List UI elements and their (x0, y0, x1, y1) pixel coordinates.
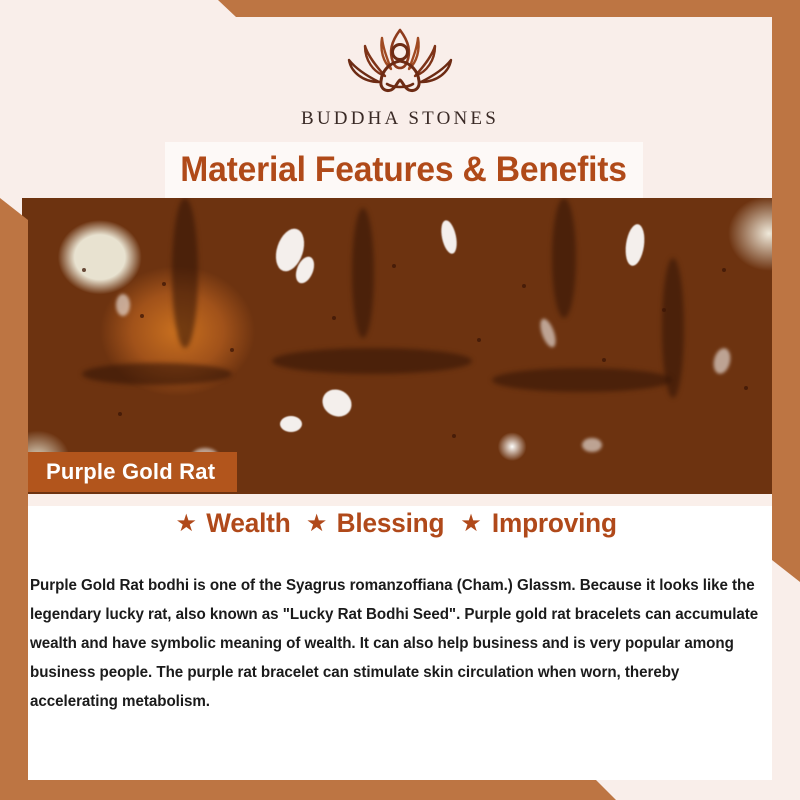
frame-bar-bottom (0, 780, 800, 800)
frame-bar-right (772, 0, 800, 582)
benefit-item: ★ Blessing (306, 508, 446, 539)
title-banner: Material Features & Benefits (165, 142, 643, 198)
benefit-label: Wealth (206, 508, 290, 539)
bead-texture (22, 198, 800, 494)
content-top-tint (22, 494, 772, 506)
infographic-poster: BUDDHA STONES Material Features & Benefi… (0, 0, 800, 800)
benefit-label: Improving (492, 508, 617, 539)
benefit-label: Blessing (337, 508, 445, 539)
page-title: Material Features & Benefits (181, 150, 628, 190)
lotus-meditation-icon (325, 22, 475, 104)
star-icon: ★ (175, 512, 197, 536)
benefits-row: ★ Wealth ★ Blessing ★ Improving (22, 508, 772, 539)
brand-name: BUDDHA STONES (0, 108, 800, 130)
material-label-text: Purple Gold Rat (46, 459, 215, 485)
product-photo (22, 198, 800, 494)
header-area: BUDDHA STONES (0, 0, 800, 145)
benefit-item: ★ Improving (460, 508, 618, 539)
star-icon: ★ (306, 512, 328, 536)
content-panel: ★ Wealth ★ Blessing ★ Improving Purple G… (22, 494, 772, 780)
description-text: Purple Gold Rat bodhi is one of the Syag… (30, 571, 759, 716)
benefit-item: ★ Wealth (175, 508, 291, 539)
frame-bar-left (0, 198, 28, 780)
brand-logo-block: BUDDHA STONES (0, 22, 800, 130)
star-icon: ★ (460, 512, 482, 536)
material-label-badge: Purple Gold Rat (22, 452, 237, 492)
